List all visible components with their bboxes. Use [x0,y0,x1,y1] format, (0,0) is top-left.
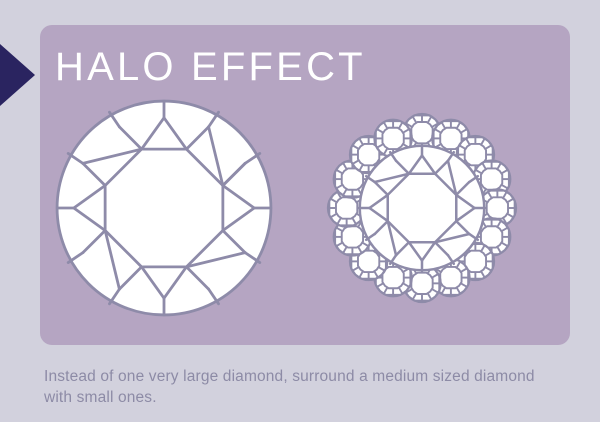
halo-diamond-cluster-illustration [326,98,518,318]
right-pointing-triangle-marker [0,44,35,106]
infographic-card-slide: HALO EFFECT [0,0,600,422]
caption-text: Instead of one very large diamond, surro… [44,366,564,408]
large-diamond-graphic [57,101,271,315]
single-large-diamond-svg [56,100,272,316]
single-large-diamond-illustration [56,100,272,316]
halo-cluster-svg [326,98,518,318]
halo-center-stone [360,146,485,271]
page-title: HALO EFFECT [55,44,366,90]
